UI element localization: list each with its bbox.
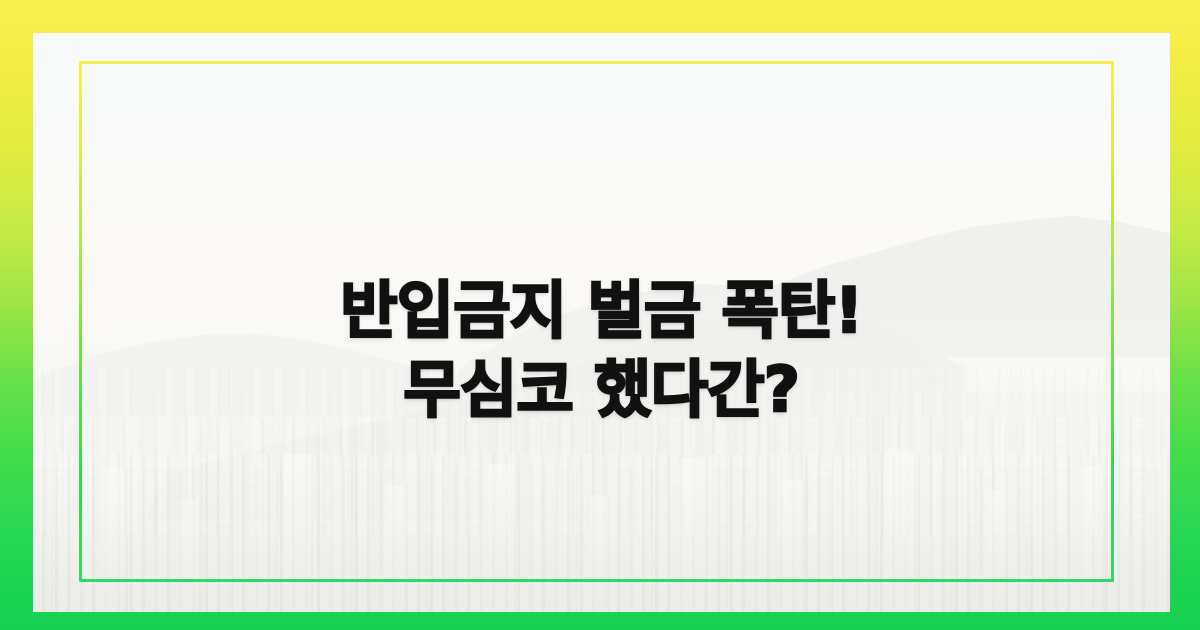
foreground-tower xyxy=(385,485,407,612)
foreground-tower xyxy=(886,449,916,612)
foreground-tower xyxy=(783,480,805,612)
foreground-tower xyxy=(488,464,516,612)
photo-stage: 반입금지 벌금 폭탄! 무심코 했다간? xyxy=(33,33,1170,612)
thumbnail-banner: 반입금지 벌금 폭탄! 무심코 했다간? xyxy=(0,0,1200,630)
cityscape-photo xyxy=(33,33,1170,612)
foreground-tower xyxy=(988,490,1008,612)
city-buildings xyxy=(33,357,1170,612)
foreground-tower xyxy=(181,500,201,612)
foreground-tower xyxy=(681,459,707,612)
foreground-tower xyxy=(590,495,610,612)
foreground-tower xyxy=(283,454,313,612)
foreground-tower xyxy=(1079,467,1105,612)
foreground-tower xyxy=(101,469,127,612)
